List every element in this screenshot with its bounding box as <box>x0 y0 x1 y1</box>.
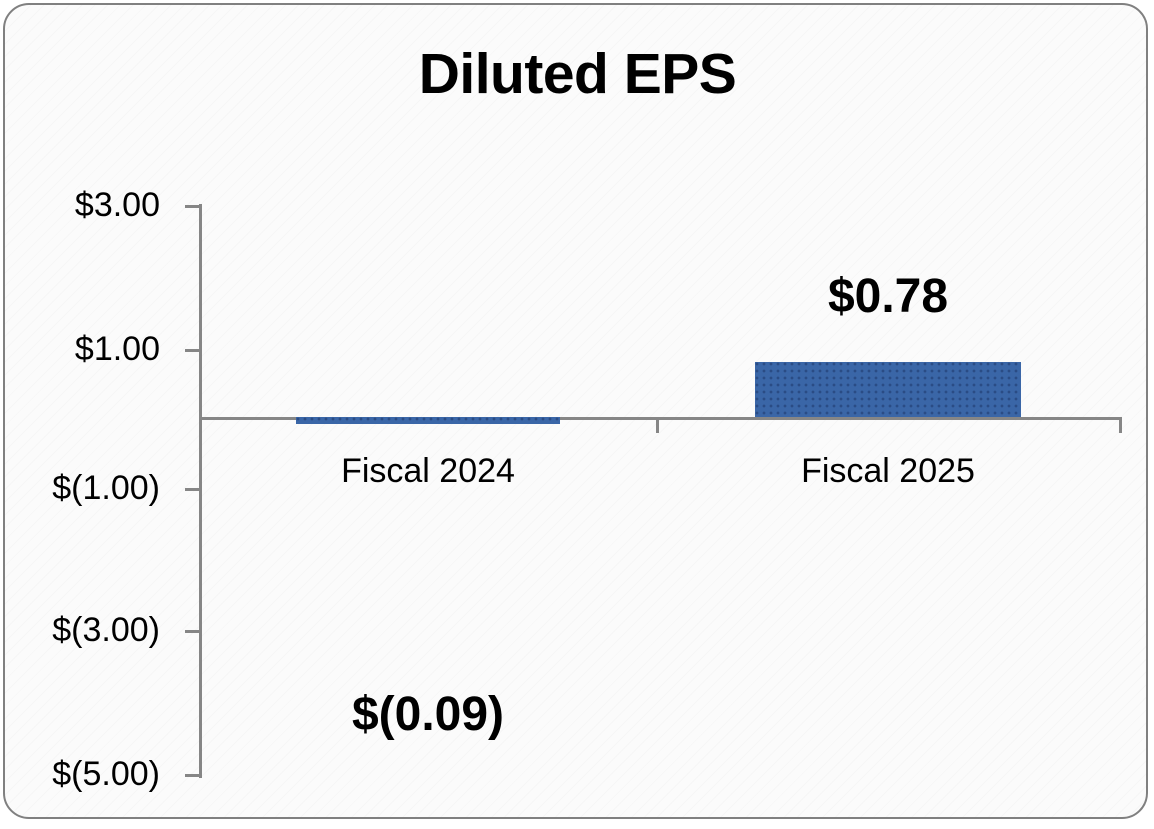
category-label-fiscal-2024: Fiscal 2024 <box>296 454 560 488</box>
value-axis-label-neg3: $(3.00) <box>5 613 160 647</box>
value-axis-tick-3 <box>185 205 200 208</box>
chart-screenshot: Diluted EPS $3.00 $1.00 $(1.00) $(3.00) <box>0 0 1154 829</box>
data-label-fiscal-2024: $(0.09) <box>296 691 560 739</box>
value-axis-tick-neg1 <box>185 488 200 491</box>
value-axis-line <box>199 204 202 778</box>
category-axis-tick-mid <box>656 420 659 433</box>
chart-plate: Diluted EPS $3.00 $1.00 $(1.00) $(3.00) <box>3 3 1148 819</box>
value-axis-tick-neg5 <box>185 774 200 777</box>
value-axis-tick-1 <box>185 349 200 352</box>
value-axis-label-1: $1.00 <box>5 332 160 366</box>
plot-area: $3.00 $1.00 $(1.00) $(3.00) $(5.00) <box>5 5 1150 821</box>
bar-fiscal-2024[interactable] <box>296 417 560 424</box>
category-axis-tick-end <box>1119 420 1122 433</box>
value-axis-label-3: $3.00 <box>5 188 160 222</box>
value-axis-label-neg5: $(5.00) <box>5 757 160 791</box>
bar-fiscal-2025[interactable] <box>755 362 1021 417</box>
category-label-fiscal-2025: Fiscal 2025 <box>755 454 1021 488</box>
value-axis-tick-neg3 <box>185 630 200 633</box>
value-axis-label-neg1: $(1.00) <box>5 471 160 505</box>
data-label-fiscal-2025: $0.78 <box>755 273 1021 321</box>
